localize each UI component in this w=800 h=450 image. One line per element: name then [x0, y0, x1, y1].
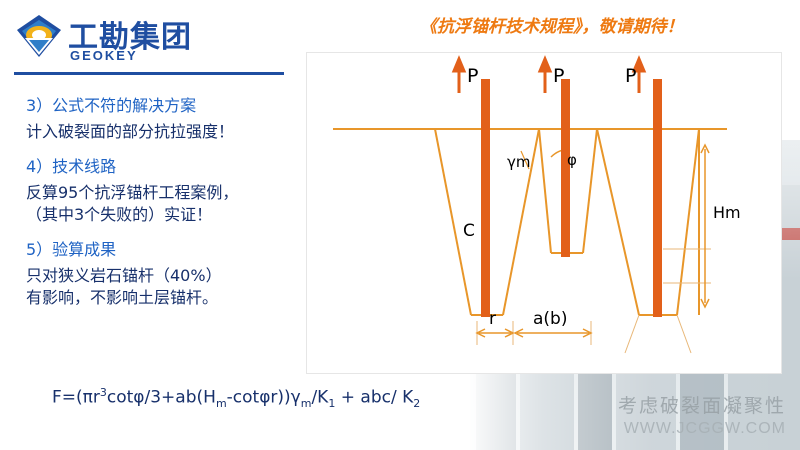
content-text-block: 3）公式不符的解决方案 计入破裂面的部分抗拉强度！ 4）技术线路 反算95个抗浮… — [26, 92, 304, 309]
anchor-bar-right — [653, 79, 662, 317]
content-heading-4: 4）技术线路 — [26, 153, 304, 177]
anti-float-anchor-failure-diagram: P P P γm φ C Hm r a(b) — [306, 52, 782, 374]
formula-lead: F=(πr — [52, 388, 100, 408]
content-body-3: 计入破裂面的部分抗拉强度！ — [26, 121, 304, 143]
anchor-bars — [481, 79, 662, 317]
diagram-label-width-ab: a(b) — [533, 309, 567, 329]
diagram-label-load-right: P — [625, 65, 636, 87]
slide: 工勘集团 GEOKEY 《抗浮锚杆技术规程》，敬请期待！ 3）公式不符的解决方案… — [0, 0, 800, 450]
content-body-4: 反算95个抗浮锚杆工程案例， （其中3个失败的）实证！ — [26, 182, 304, 226]
formula-sub-1: m — [216, 397, 227, 410]
formula: F=(πr3cotφ/3+ab(Hm-cotφr))γm/K1 + abc/ K… — [52, 386, 420, 410]
diagram-label-phi: φ — [567, 151, 577, 169]
diagram-label-load-left: P — [467, 65, 478, 87]
company-logo: 工勘集团 GEOKEY — [16, 12, 206, 68]
logo-divider — [14, 72, 284, 75]
content-body-5: 只对狭义岩石锚杆（40%） 有影响，不影响土层锚杆。 — [26, 265, 304, 309]
formula-mid-1: cotφ/3+ab(H — [107, 388, 216, 408]
headline-text: 《抗浮锚杆技术规程》，敬请期待！ — [420, 12, 684, 37]
diamond-logo-icon — [16, 14, 62, 58]
formula-sup-1: 3 — [100, 386, 107, 399]
formula-mid-2: -cotφr))γ — [227, 388, 301, 408]
formula-mid-4: + abc/ K — [335, 388, 413, 408]
content-heading-5: 5）验算成果 — [26, 236, 304, 260]
formula-sub-2: m — [301, 397, 312, 410]
logo-english-name: GEOKEY — [70, 48, 138, 63]
diagram-label-load-mid: P — [553, 65, 564, 87]
content-heading-3: 3）公式不符的解决方案 — [26, 92, 304, 116]
diagram-label-gamma-m: γm — [507, 153, 531, 171]
diagram-label-radius-r: r — [489, 309, 496, 329]
diagram-label-cohesion-c: C — [463, 221, 475, 241]
formula-mid-3: /K — [311, 388, 328, 408]
formula-sub-4: 2 — [413, 397, 420, 410]
anchor-bar-left — [481, 79, 490, 317]
diagram-label-height-hm: Hm — [713, 203, 741, 222]
